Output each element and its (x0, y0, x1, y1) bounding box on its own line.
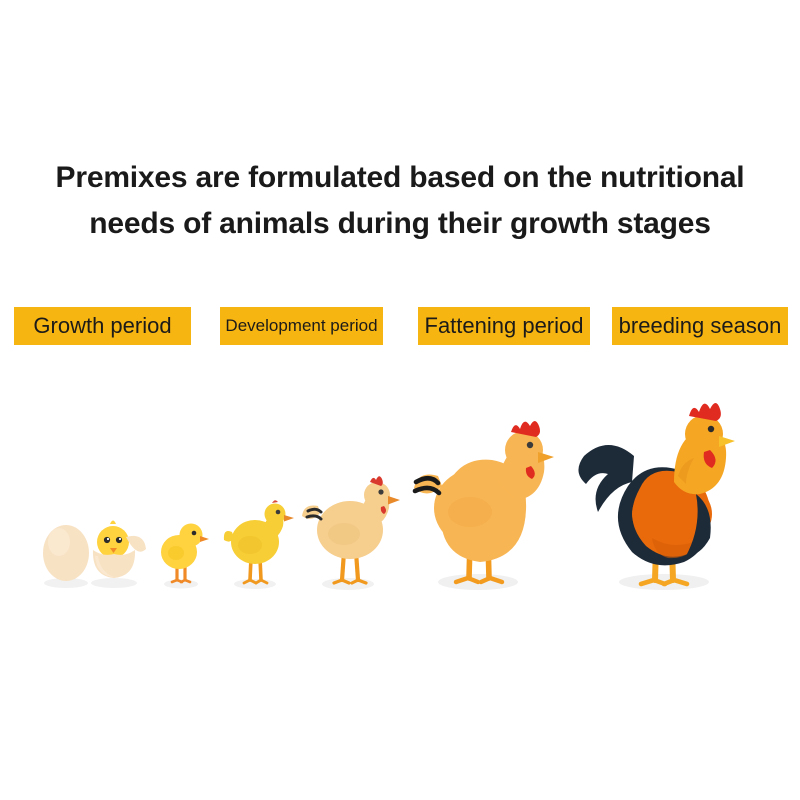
stage-label-breeding-season: breeding season (612, 307, 788, 345)
hatching-chick-illustration (86, 390, 148, 600)
hen-illustration (412, 390, 544, 600)
rooster-illustration (568, 390, 746, 600)
page-title: Premixes are formulated based on the nut… (0, 155, 800, 247)
chick-illustration (155, 390, 213, 600)
growth-stage-figure-row (0, 390, 800, 600)
title-line-1: Premixes are formulated based on the nut… (0, 155, 800, 201)
stage-label-development-period: Development period (220, 307, 383, 345)
title-line-2: needs of animals during their growth sta… (0, 201, 800, 247)
juvenile-chicken-illustration (222, 390, 296, 600)
stage-label-growth-period: Growth period (14, 307, 191, 345)
pullet-illustration (300, 390, 396, 600)
stage-label-fattening-period: Fattening period (418, 307, 590, 345)
infographic-poster: Premixes are formulated based on the nut… (0, 0, 800, 800)
